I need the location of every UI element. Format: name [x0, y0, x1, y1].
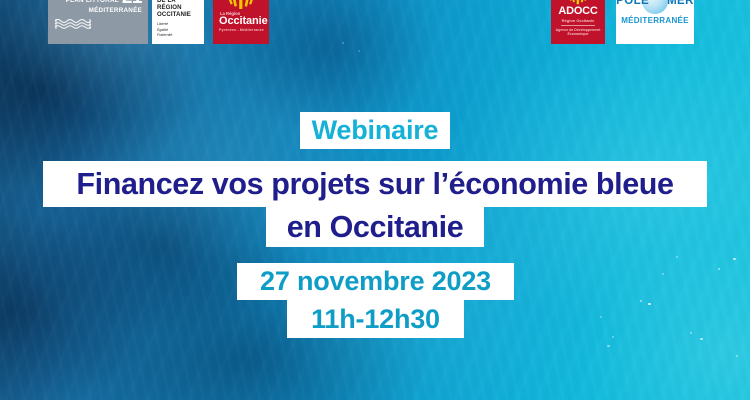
wave-lines-icon	[53, 17, 93, 31]
time-band: 11h-12h30	[287, 300, 464, 338]
logo-prefet-region-occitanie: PRÉFET DE LA RÉGION OCCITANIE Liberté Ég…	[152, 0, 204, 44]
region-occitanie-name: Occitanie	[219, 16, 269, 27]
kicker-text: Webinaire	[312, 115, 439, 146]
plan-littoral-line1: PLAN LITTORAL	[66, 0, 119, 6]
region-occitanie-sub: Pyrénées - Méditerranée	[219, 28, 269, 32]
prefet-motto-line3: Fraternité	[157, 33, 200, 38]
date-text: 27 novembre 2023	[260, 266, 491, 297]
prefet-title: PRÉFET DE LA RÉGION OCCITANIE	[157, 0, 200, 18]
logo-adocc: ADOCC Région Occitanie Agence de Dévelop…	[551, 0, 605, 44]
title-band-line2: en Occitanie	[266, 207, 484, 247]
plan-littoral-line2: MÉDITERRANÉE	[53, 7, 142, 14]
time-text: 11h-12h30	[311, 304, 440, 335]
plan-littoral-top-row: PLAN LITTORAL 21	[53, 0, 142, 6]
prefet-title-line2: DE LA RÉGION	[157, 0, 200, 11]
pole-mer-word1: PÔLE	[616, 0, 649, 7]
logo-region-occitanie: La Région Occitanie Pyrénées - Méditerra…	[213, 0, 269, 44]
webinar-poster: PLAN LITTORAL 21 MÉDITERRANÉE PRÉFET DE …	[0, 0, 750, 400]
kicker-band: Webinaire	[300, 112, 450, 149]
date-band: 27 novembre 2023	[237, 263, 514, 300]
occitan-cross-icon	[228, 0, 254, 10]
adocc-divider	[561, 25, 595, 26]
adocc-name: ADOCC	[551, 6, 605, 17]
pole-mer-word2: MER	[667, 0, 694, 7]
logo-plan-littoral-21: PLAN LITTORAL 21 MÉDITERRANÉE	[48, 0, 148, 44]
pole-mer-sub: MÉDITERRANÉE	[616, 16, 694, 25]
prefet-title-line3: OCCITANIE	[157, 11, 200, 18]
adocc-tagline: Agence de Développement Économique	[551, 28, 605, 37]
adocc-subtitle: Région Occitanie	[551, 18, 605, 23]
logo-pole-mer-mediterranee: PÔLE MER MÉDITERRANÉE	[616, 0, 694, 44]
partner-logo-strip: PLAN LITTORAL 21 MÉDITERRANÉE PRÉFET DE …	[0, 0, 750, 44]
title-band-line1: Financez vos projets sur l’économie bleu…	[43, 161, 707, 207]
plan-littoral-number: 21	[122, 0, 142, 6]
adocc-tagline-line2: Économique	[551, 32, 605, 37]
title-line2: en Occitanie	[287, 210, 464, 245]
pole-mer-wordmark: PÔLE MER	[616, 0, 694, 11]
title-line1: Financez vos projets sur l’économie bleu…	[76, 167, 673, 202]
prefet-motto: Liberté Égalité Fraternité	[157, 22, 200, 38]
